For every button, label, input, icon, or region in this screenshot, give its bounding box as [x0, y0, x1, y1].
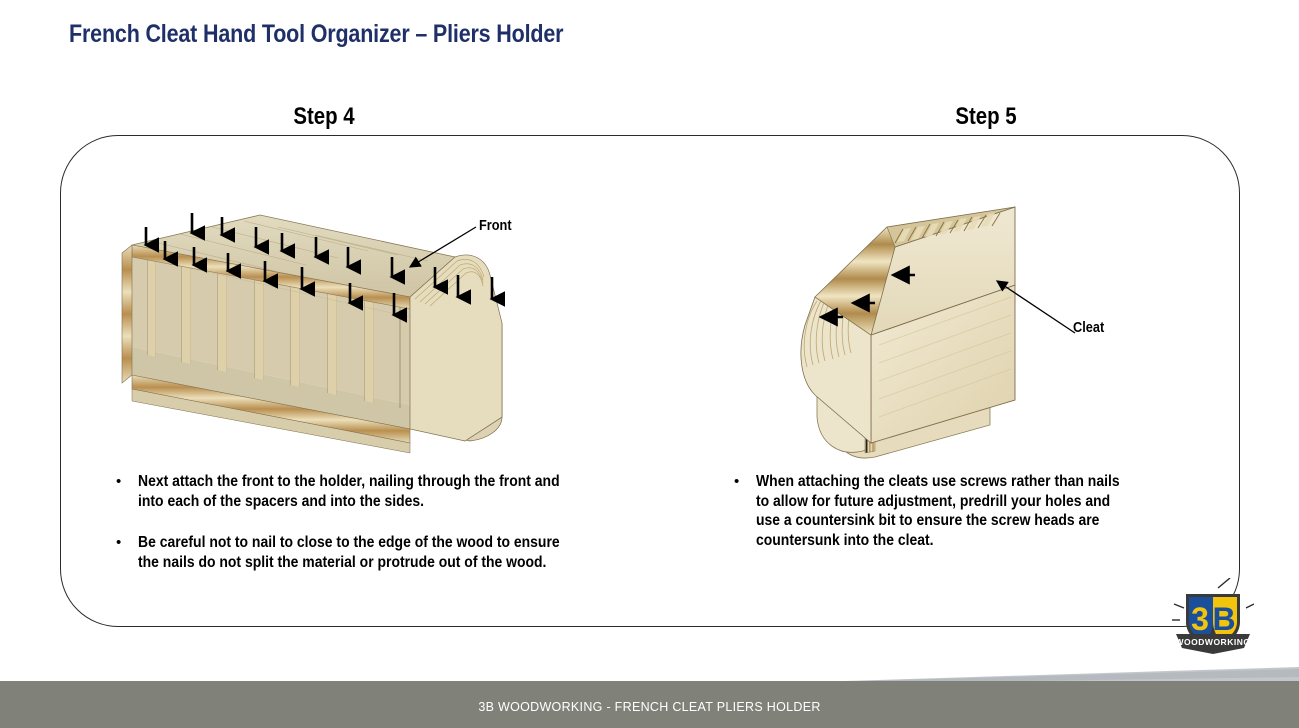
step-5-bullet-1: When attaching the cleats use screws rat… [756, 472, 1136, 550]
logo-letter-B: B [1212, 601, 1235, 637]
holder-left-end-cap [122, 245, 132, 383]
bullet-glyph: • [728, 472, 756, 492]
list-item: • Next attach the front to the holder, n… [110, 472, 610, 511]
logo-letter-3: 3 [1191, 601, 1209, 637]
step-4-bullet-list: • Next attach the front to the holder, n… [110, 472, 610, 590]
step-5-heading: Step 5 [918, 103, 1054, 131]
step-4-bullet-1: Next attach the front to the holder, nai… [138, 472, 563, 511]
bullet-glyph: • [110, 472, 138, 492]
list-item: • When attaching the cleats use screws r… [728, 472, 1178, 550]
slide-canvas: French Cleat Hand Tool Organizer – Plier… [0, 0, 1299, 728]
logo-wordmark: WOODWORKING [1176, 637, 1251, 647]
bullet-glyph: • [110, 533, 138, 553]
page-title: French Cleat Hand Tool Organizer – Plier… [69, 20, 563, 49]
brand-logo[interactable]: 3 B WOODWORKING [1172, 578, 1254, 660]
step-4-heading: Step 4 [256, 103, 392, 131]
step-4-illustration [110, 205, 580, 460]
step-4-bullet-2: Be careful not to nail to close to the e… [138, 533, 563, 572]
cleat-label: Cleat [1073, 320, 1104, 336]
front-label: Front [479, 218, 512, 234]
list-item: • Be careful not to nail to close to the… [110, 533, 610, 572]
footer-text: 3B WOODWORKING - FRENCH CLEAT PLIERS HOL… [0, 700, 1299, 714]
step-5-bullet-list: • When attaching the cleats use screws r… [728, 472, 1178, 568]
